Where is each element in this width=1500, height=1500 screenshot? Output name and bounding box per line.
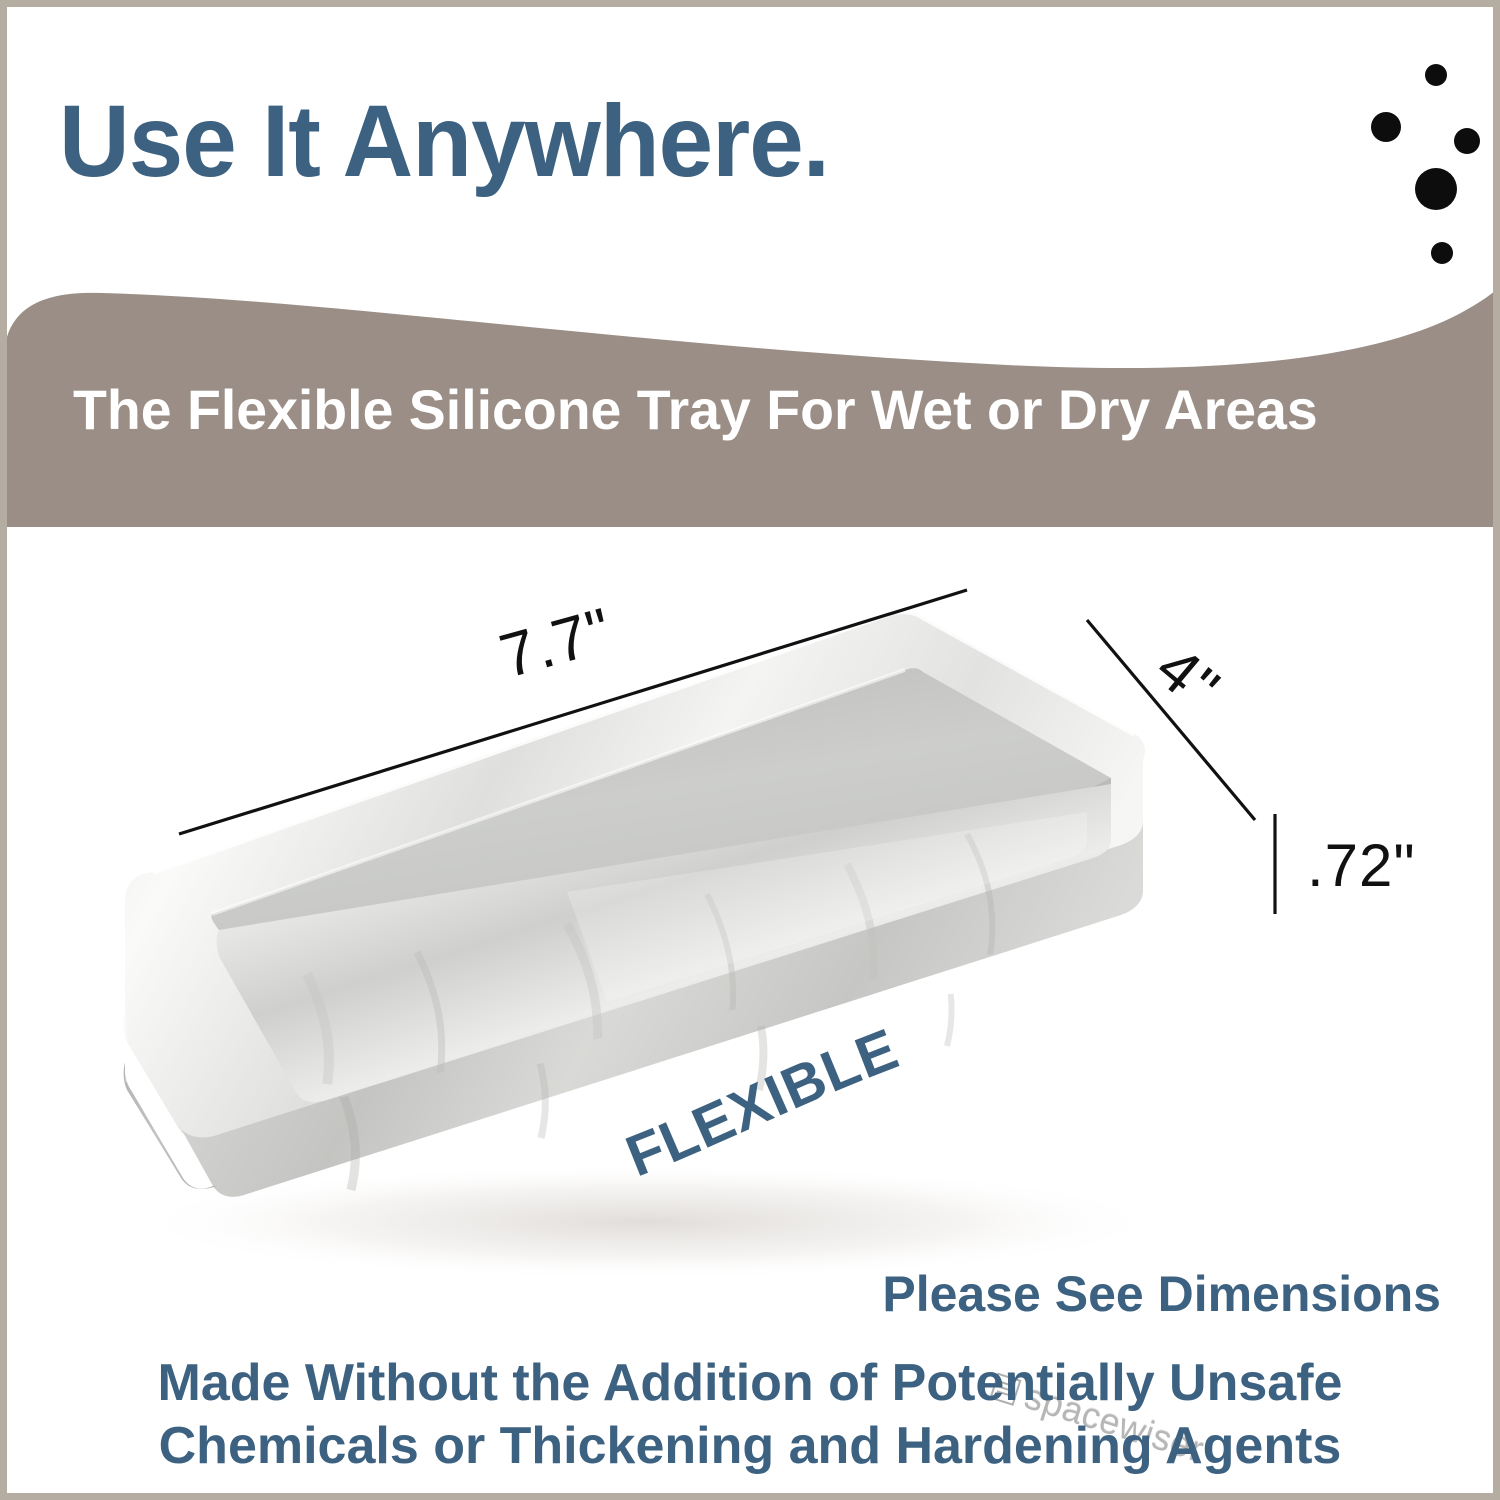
dot-icon bbox=[1425, 64, 1447, 86]
dot-icon bbox=[1415, 168, 1457, 210]
dot-icon bbox=[1431, 242, 1453, 264]
dot-icon bbox=[1371, 112, 1401, 142]
dimension-label-height: .72" bbox=[1307, 831, 1416, 900]
scatter-dots-decoration bbox=[1362, 25, 1500, 175]
safety-claim-line-1: Made Without the Addition of Potentially… bbox=[7, 1352, 1493, 1415]
safety-claim-line-2: Chemicals or Thickening and Hardening Ag… bbox=[7, 1415, 1493, 1478]
safety-claim: Made Without the Addition of Potentially… bbox=[7, 1352, 1493, 1479]
see-dimensions-note: Please See Dimensions bbox=[882, 1265, 1441, 1323]
banner-subtitle: The Flexible Silicone Tray For Wet or Dr… bbox=[73, 377, 1439, 442]
flexible-callout: FLEXIBLE bbox=[627, 1027, 1007, 1197]
dot-icon bbox=[1454, 128, 1480, 154]
page-title: Use It Anywhere. bbox=[59, 85, 829, 197]
subtitle-banner: The Flexible Silicone Tray For Wet or Dr… bbox=[7, 277, 1500, 527]
flexible-callout-text: FLEXIBLE bbox=[617, 1016, 907, 1189]
product-infographic-page: Use It Anywhere. The Flexible Silicone T… bbox=[0, 0, 1500, 1500]
